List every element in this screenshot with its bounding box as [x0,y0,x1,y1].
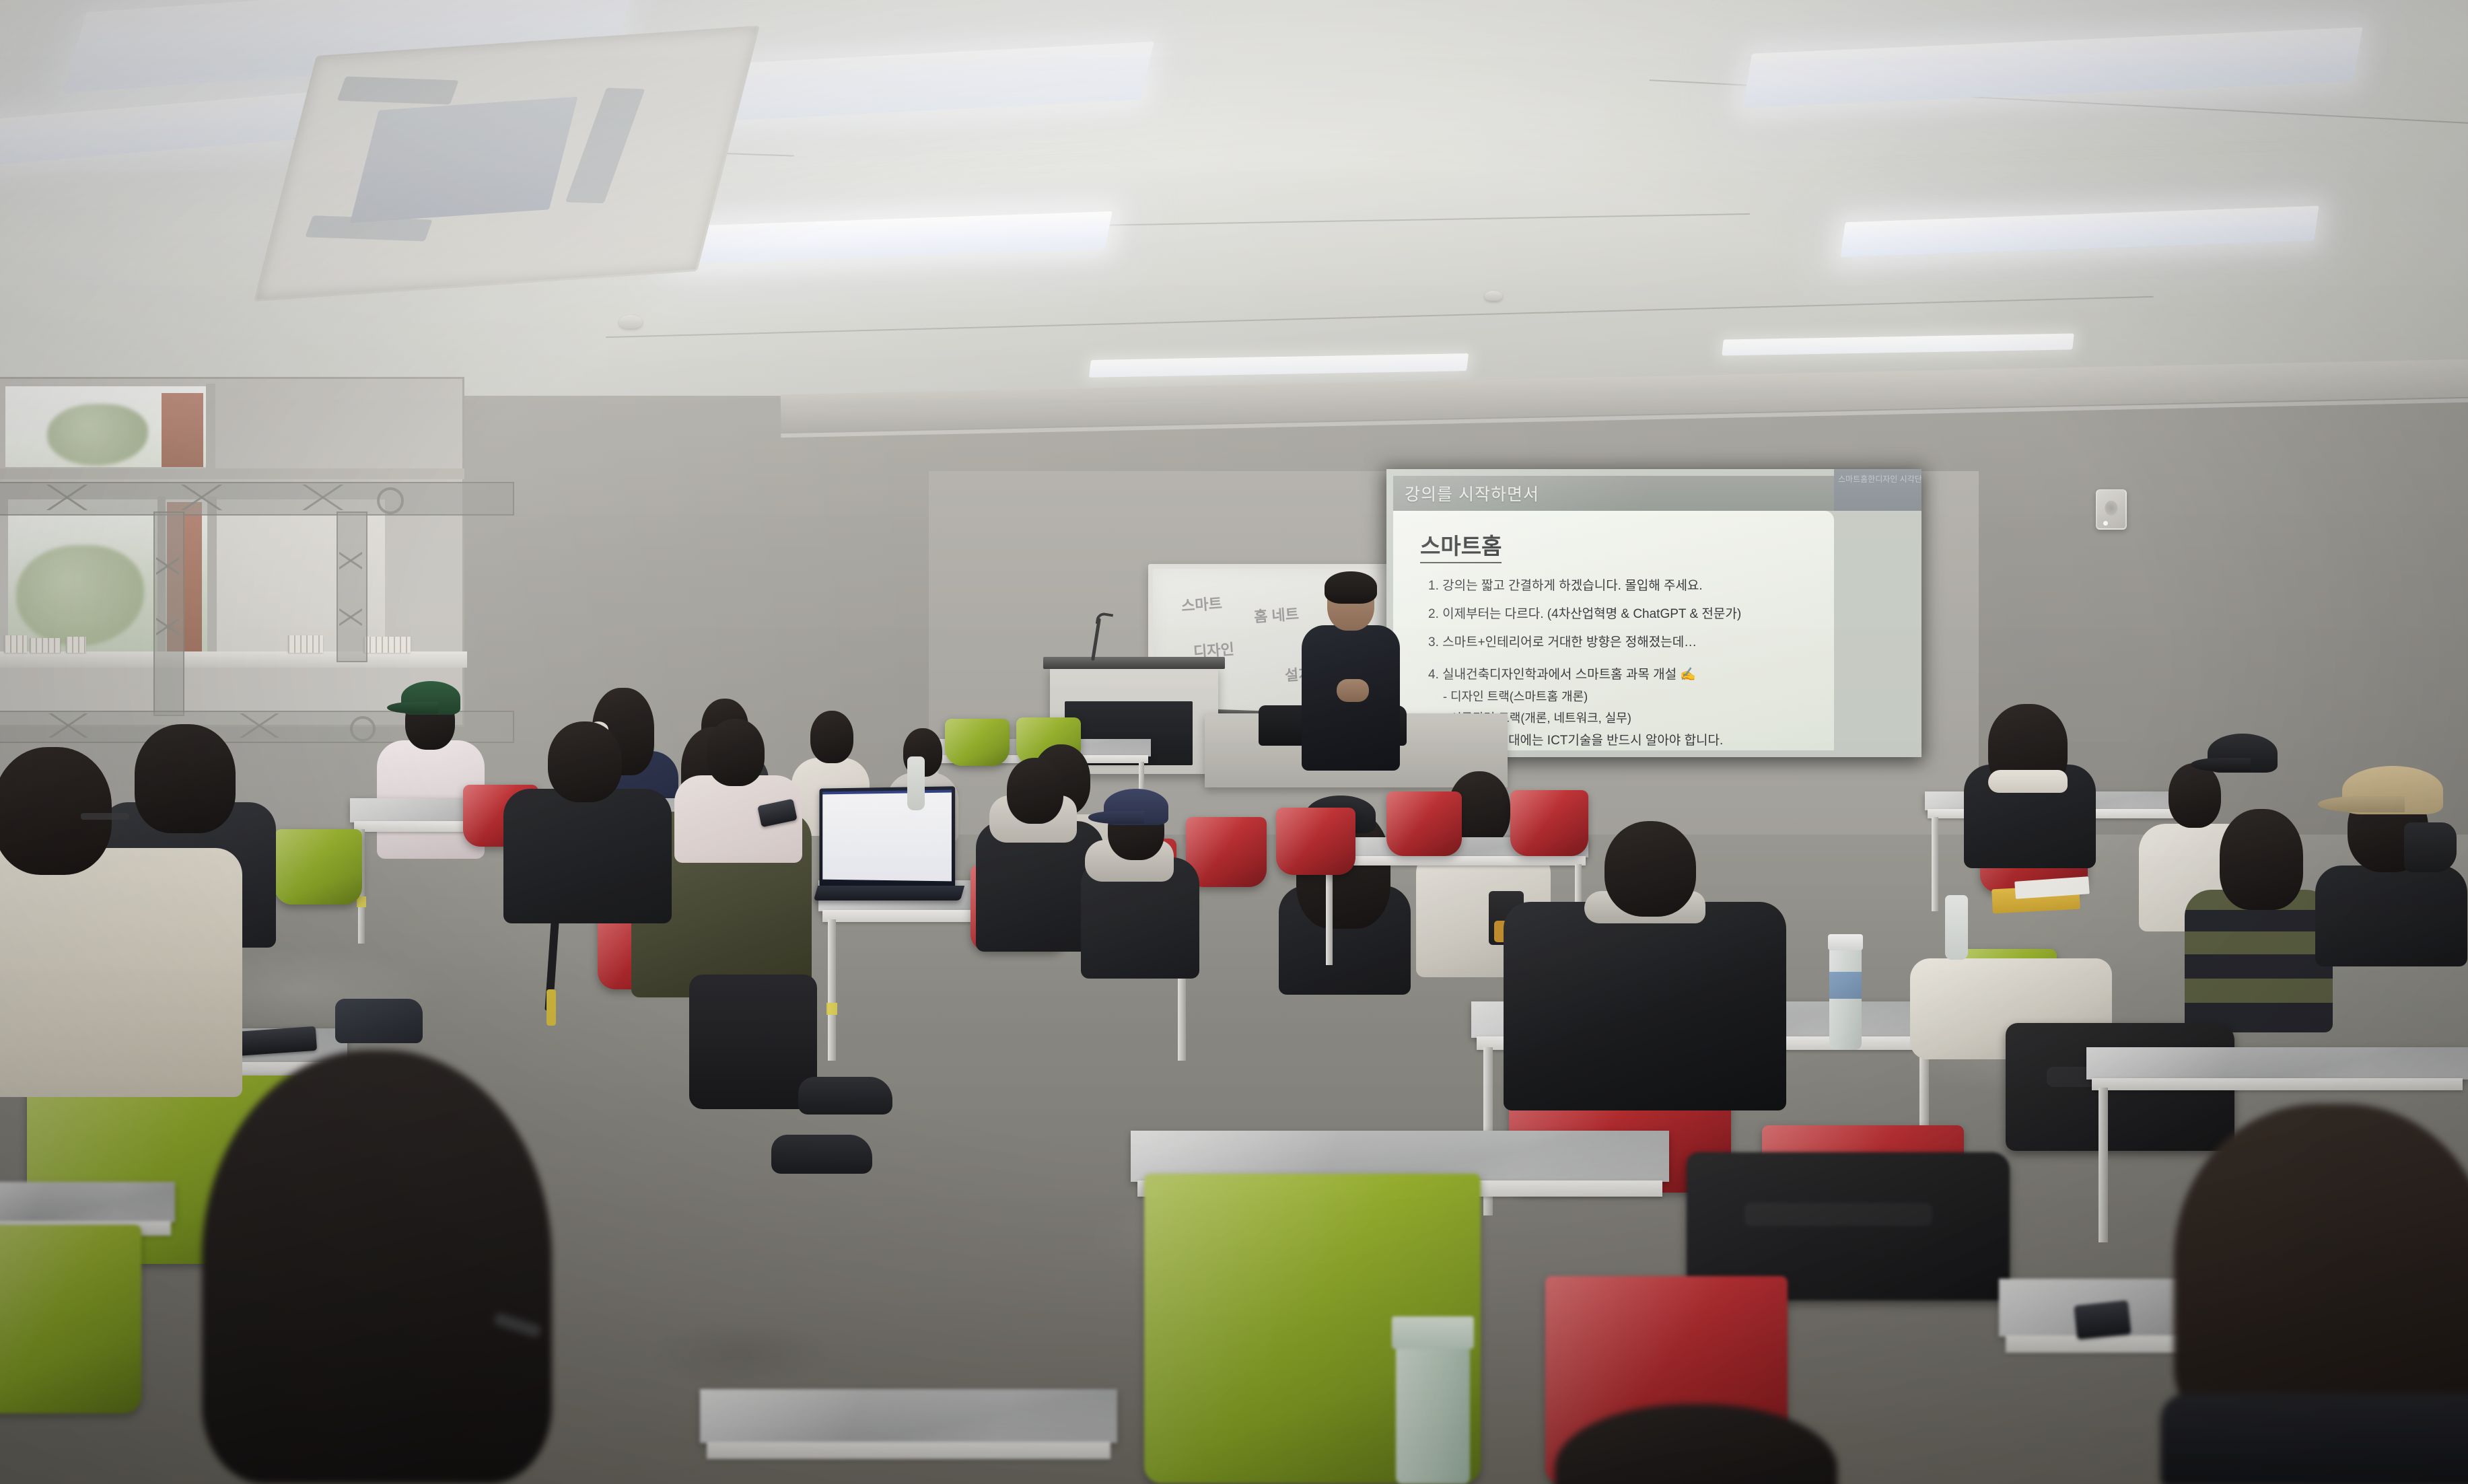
baseball-cap [1104,789,1168,825]
chair[interactable] [275,829,362,905]
student-tan-cap [2315,765,2467,966]
laptop-screen [820,786,956,889]
lectern-top [1043,657,1225,669]
classroom-photo: 스마트 홈 네트 워크 디자인 설계 스마트홈한디자인 시각단계 강의를 시작하… [0,0,2468,1484]
chair[interactable] [1276,808,1355,875]
led-panel-light [663,42,1154,125]
slide-header-text: 강의를 시작하면서 [1393,481,1539,505]
wall-speaker-icon [2096,489,2127,530]
smartphone[interactable] [2074,1300,2131,1339]
student-foreground-head-right [2174,1104,2468,1484]
thermos-bottle[interactable] [1396,1331,1470,1484]
face-mask [2404,822,2457,872]
student-olive-stripe [2185,809,2333,1031]
baseball-cap [401,681,460,715]
smoke-detector-icon [1485,291,1502,301]
student-foreground-black-coat [1504,821,1786,1110]
slide-bullet: 4. 실내건축디자인학과에서 스마트홈 과목 개설 ✍ [1428,664,1696,682]
slide-header-band: 강의를 시작하면서 [1393,476,1834,511]
led-panel-light [1743,27,2363,107]
laptop-keyboard[interactable] [814,886,964,900]
laptop-document-window [822,789,952,881]
bottle-label [1829,972,1862,999]
umbrella-tip [547,989,556,1026]
led-panel-light [671,211,1113,264]
led-panel-light [63,0,637,93]
student-navy-cap [1081,789,1199,977]
eyeglasses [81,813,129,820]
pencil-case[interactable] [335,999,423,1043]
student-foreground-head-bottom [1555,1404,1837,1484]
student-back-row [1964,704,2096,865]
student-legs [689,975,817,1109]
chair[interactable] [1386,791,1462,856]
student-cream-hoodie [0,747,242,1097]
led-panel-light [1840,206,2319,257]
water-bottle[interactable] [907,756,925,810]
smoke-detector-icon [619,315,642,328]
student-pink-top [674,719,802,860]
lecturer-hair [1325,571,1377,604]
lecturer [1298,575,1403,771]
slide-bullet: 2. 이제부터는 다르다. (4차산업혁명 & ChatGPT & 전문가) [1428,604,1741,622]
whiteboard-ink: 스마트 [1180,592,1223,616]
slide-bullet: 1. 강의는 짧고 간결하게 하겠습니다. 몰입해 주세요. [1428,575,1703,594]
baseball-cap [2208,734,2278,773]
led-panel-light [1089,353,1469,378]
led-panel-light [0,92,309,168]
student-foreground-head-left [202,1050,552,1484]
slide-band-tail-text: 스마트홈한디자인 시각단계 [1834,469,1921,485]
slide-subbullet: - 디자인 트랙(스마트홈 개론) [1443,687,1588,705]
baseball-cap-tan [2342,766,2443,814]
slide-bullet: 3. 스마트+인테리어로 거대한 방향은 정해졌는데… [1428,632,1697,650]
shoe [798,1077,892,1115]
shoe [771,1135,872,1174]
thermos-cap [1392,1316,1474,1349]
led-panel-light [1722,333,2074,355]
lecturer-hands [1337,679,1369,702]
ceiling-air-conditioner [254,26,760,302]
water-bottle[interactable] [1945,895,1968,960]
student-black-jacket-phone [503,721,672,923]
ceiling [0,0,2468,431]
chair[interactable] [0,1225,141,1413]
bottle-cap [1828,934,1863,950]
whiteboard-ink: 홈 네트 [1253,602,1300,627]
slide-title: 스마트홈 [1420,528,1502,563]
slide-band-tail: 스마트홈한디자인 시각단계 [1834,469,1921,511]
laptop[interactable] [820,786,956,889]
scarf [1988,770,2068,793]
